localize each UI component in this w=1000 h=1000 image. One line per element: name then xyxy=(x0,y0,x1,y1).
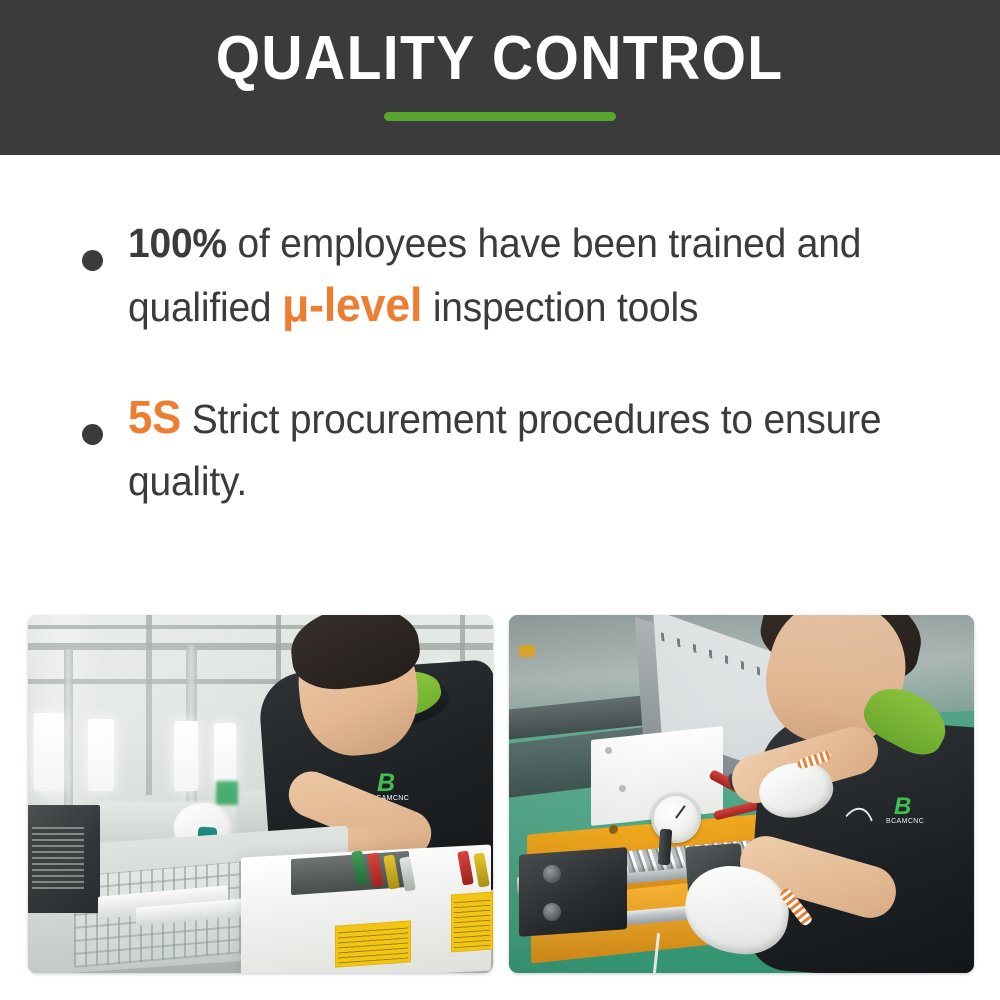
photo-gallery: B BCAMCNC xyxy=(28,615,975,973)
brand-logo-text: BCAMCNC xyxy=(886,818,924,825)
list-item-text-part: inspection tools xyxy=(422,284,698,330)
list-item-text: 100% of employees have been trained and … xyxy=(128,212,930,338)
list-item: 100% of employees have been trained and … xyxy=(0,212,1000,338)
brand-logo-icon: B xyxy=(894,795,911,819)
page-header-banner: QUALITY CONTROL xyxy=(0,0,1000,155)
quality-control-page: QUALITY CONTROL 100% of employees have b… xyxy=(0,0,1000,1000)
dial-indicator-gauge xyxy=(651,793,701,843)
title-underline-rule xyxy=(384,112,616,121)
stat-value: 100% xyxy=(128,220,227,266)
list-item: 5S Strict procurement procedures to ensu… xyxy=(0,386,1000,512)
quality-points-list: 100% of employees have been trained and … xyxy=(0,212,1000,512)
list-item-text: 5S Strict procurement procedures to ensu… xyxy=(128,386,930,512)
bullet-dot-icon xyxy=(82,424,103,445)
photo-assembly: B BCAMCNC xyxy=(28,615,493,973)
photo-assembly-image: B BCAMCNC xyxy=(28,615,493,973)
highlight-5s: 5S xyxy=(128,391,181,443)
highlight-mu-level: μ-level xyxy=(282,278,422,331)
bullet-dot-icon xyxy=(82,250,103,271)
brand-logo-icon: B xyxy=(377,771,395,796)
photo-inspection-image: B BCAMCNC xyxy=(509,615,974,973)
list-item-text-part: Strict procurement procedures to ensure … xyxy=(128,396,881,504)
page-title: QUALITY CONTROL xyxy=(216,28,784,90)
photo-inspection: B BCAMCNC Technician inspecting a yellow… xyxy=(509,615,974,973)
brand-logo: B BCAMCNC xyxy=(886,795,932,829)
